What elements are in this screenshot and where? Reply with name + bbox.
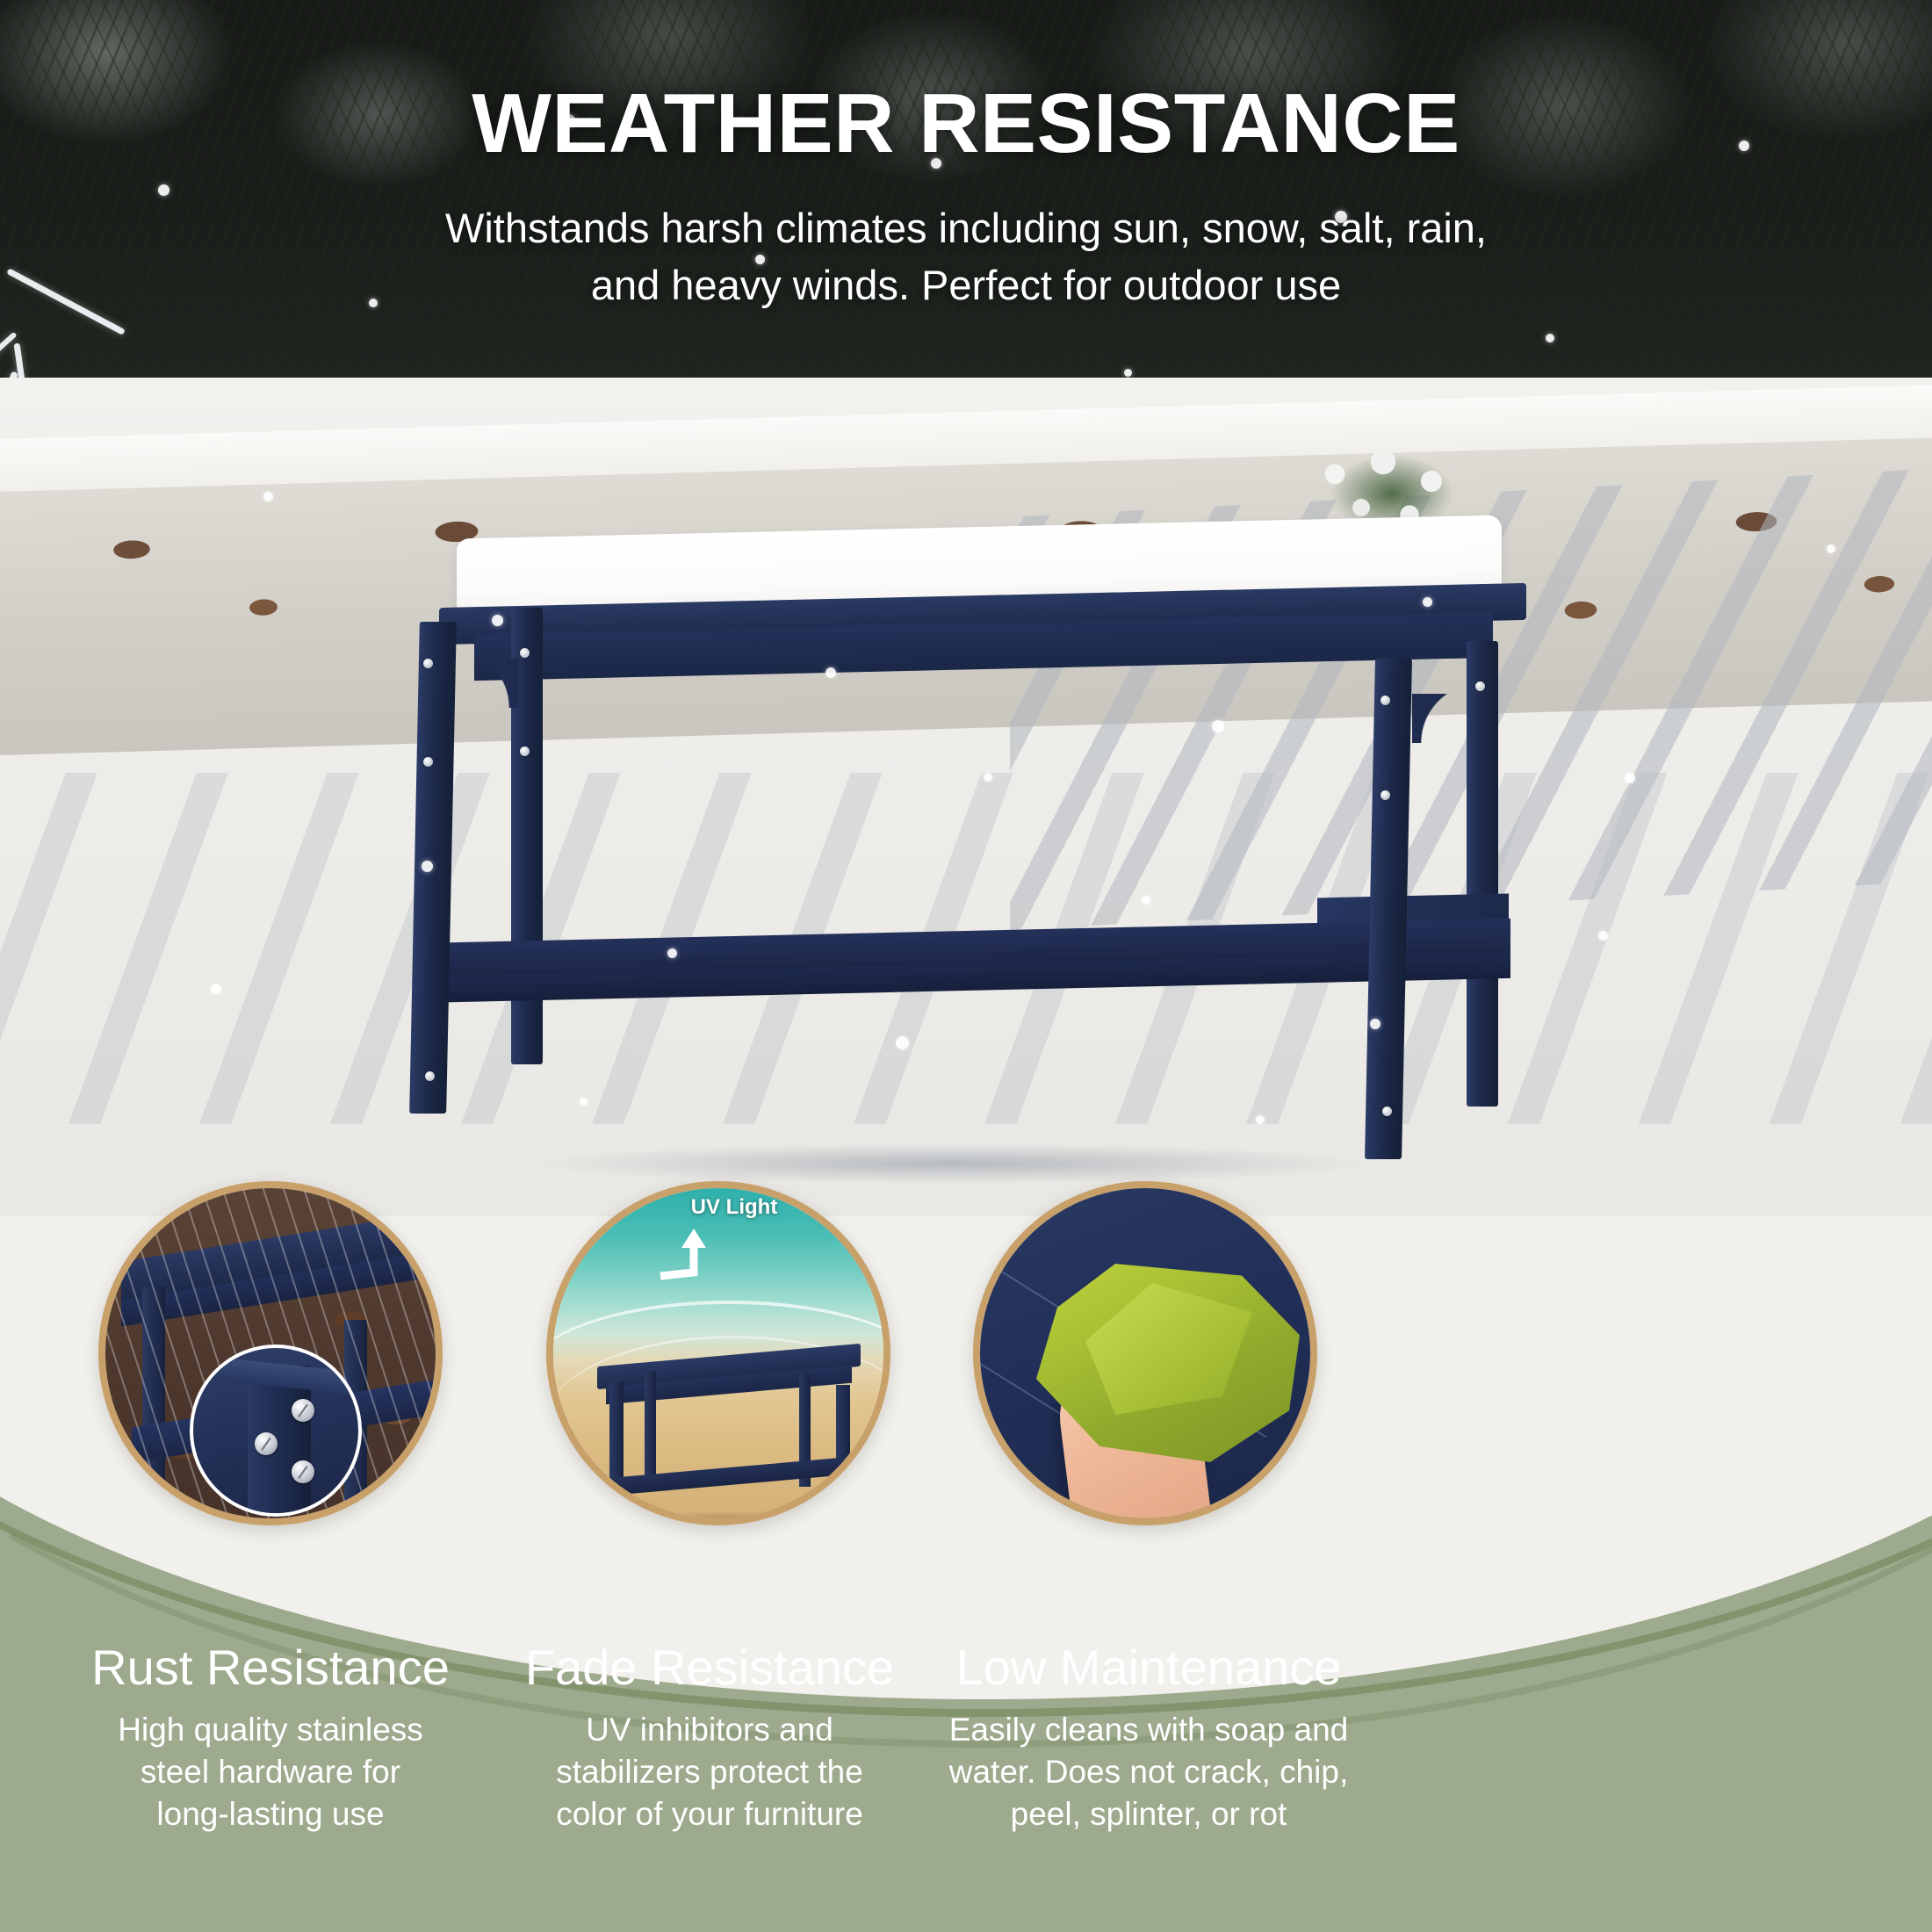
beach-bench-leg <box>609 1381 624 1517</box>
feature-title: Rust Resistance <box>42 1640 499 1695</box>
feature-text-fade-resistance: Fade Resistance UV inhibitors and stabil… <box>481 1640 938 1835</box>
hero-scene: WEATHER RESISTANCE Withstands harsh clim… <box>0 0 1932 1247</box>
feature-desc-line-1: UV inhibitors and <box>481 1709 938 1751</box>
feature-desc-line-2: water. Does not crack, chip, <box>920 1751 1377 1793</box>
screw-detail-inset <box>190 1344 362 1517</box>
feature-desc-line-2: stabilizers protect the <box>481 1751 938 1793</box>
feature-title: Low Maintenance <box>920 1640 1377 1695</box>
feature-description: Easily cleans with soap and water. Does … <box>920 1709 1377 1835</box>
feature-desc-line-3: peel, splinter, or rot <box>920 1793 1377 1835</box>
subtitle-line-2: and heavy winds. Perfect for outdoor use <box>0 257 1932 314</box>
infographic-root: WEATHER RESISTANCE Withstands harsh clim… <box>0 0 1932 1932</box>
page-subtitle: Withstands harsh climates including sun,… <box>0 200 1932 314</box>
stainless-screw-icon <box>292 1460 314 1483</box>
feature-desc-line-1: Easily cleans with soap and <box>920 1709 1377 1751</box>
beach-bench <box>580 1355 869 1525</box>
beach-bench-leg <box>836 1385 850 1518</box>
feature-desc-line-3: color of your furniture <box>481 1793 938 1835</box>
bench-bracket-right <box>1412 694 1481 743</box>
feature-description: High quality stainless steel hardware fo… <box>42 1709 499 1835</box>
bench-ground-shadow <box>369 1133 1537 1194</box>
stainless-screw-icon <box>292 1399 314 1422</box>
header-block: WEATHER RESISTANCE Withstands harsh clim… <box>0 81 1932 314</box>
feature-title: Fade Resistance <box>481 1640 938 1695</box>
feature-desc-line-3: long-lasting use <box>42 1793 499 1835</box>
bench-leg-right-front <box>1365 659 1412 1159</box>
product-bench <box>439 527 1537 1194</box>
feature-image-fade-resistance: UV Light <box>546 1181 890 1525</box>
feature-image-rust-resistance <box>98 1181 443 1525</box>
feature-description: UV inhibitors and stabilizers protect th… <box>481 1709 938 1835</box>
feature-desc-line-1: High quality stainless <box>42 1709 499 1751</box>
beach-bench-shelf <box>602 1456 857 1496</box>
bench-bracket-left <box>450 659 518 708</box>
feature-image-low-maintenance <box>973 1181 1317 1525</box>
beach-bench-leg <box>645 1371 656 1485</box>
stainless-screw-icon <box>255 1432 278 1455</box>
uv-light-label: UV Light <box>638 1195 831 1220</box>
subtitle-line-1: Withstands harsh climates including sun,… <box>0 200 1932 257</box>
page-title: WEATHER RESISTANCE <box>0 81 1932 167</box>
feature-text-low-maintenance: Low Maintenance Easily cleans with soap … <box>920 1640 1377 1835</box>
feature-text-rust-resistance: Rust Resistance High quality stainless s… <box>42 1640 499 1835</box>
uv-light-arrow-icon <box>659 1227 738 1292</box>
feature-desc-line-2: steel hardware for <box>42 1751 499 1793</box>
